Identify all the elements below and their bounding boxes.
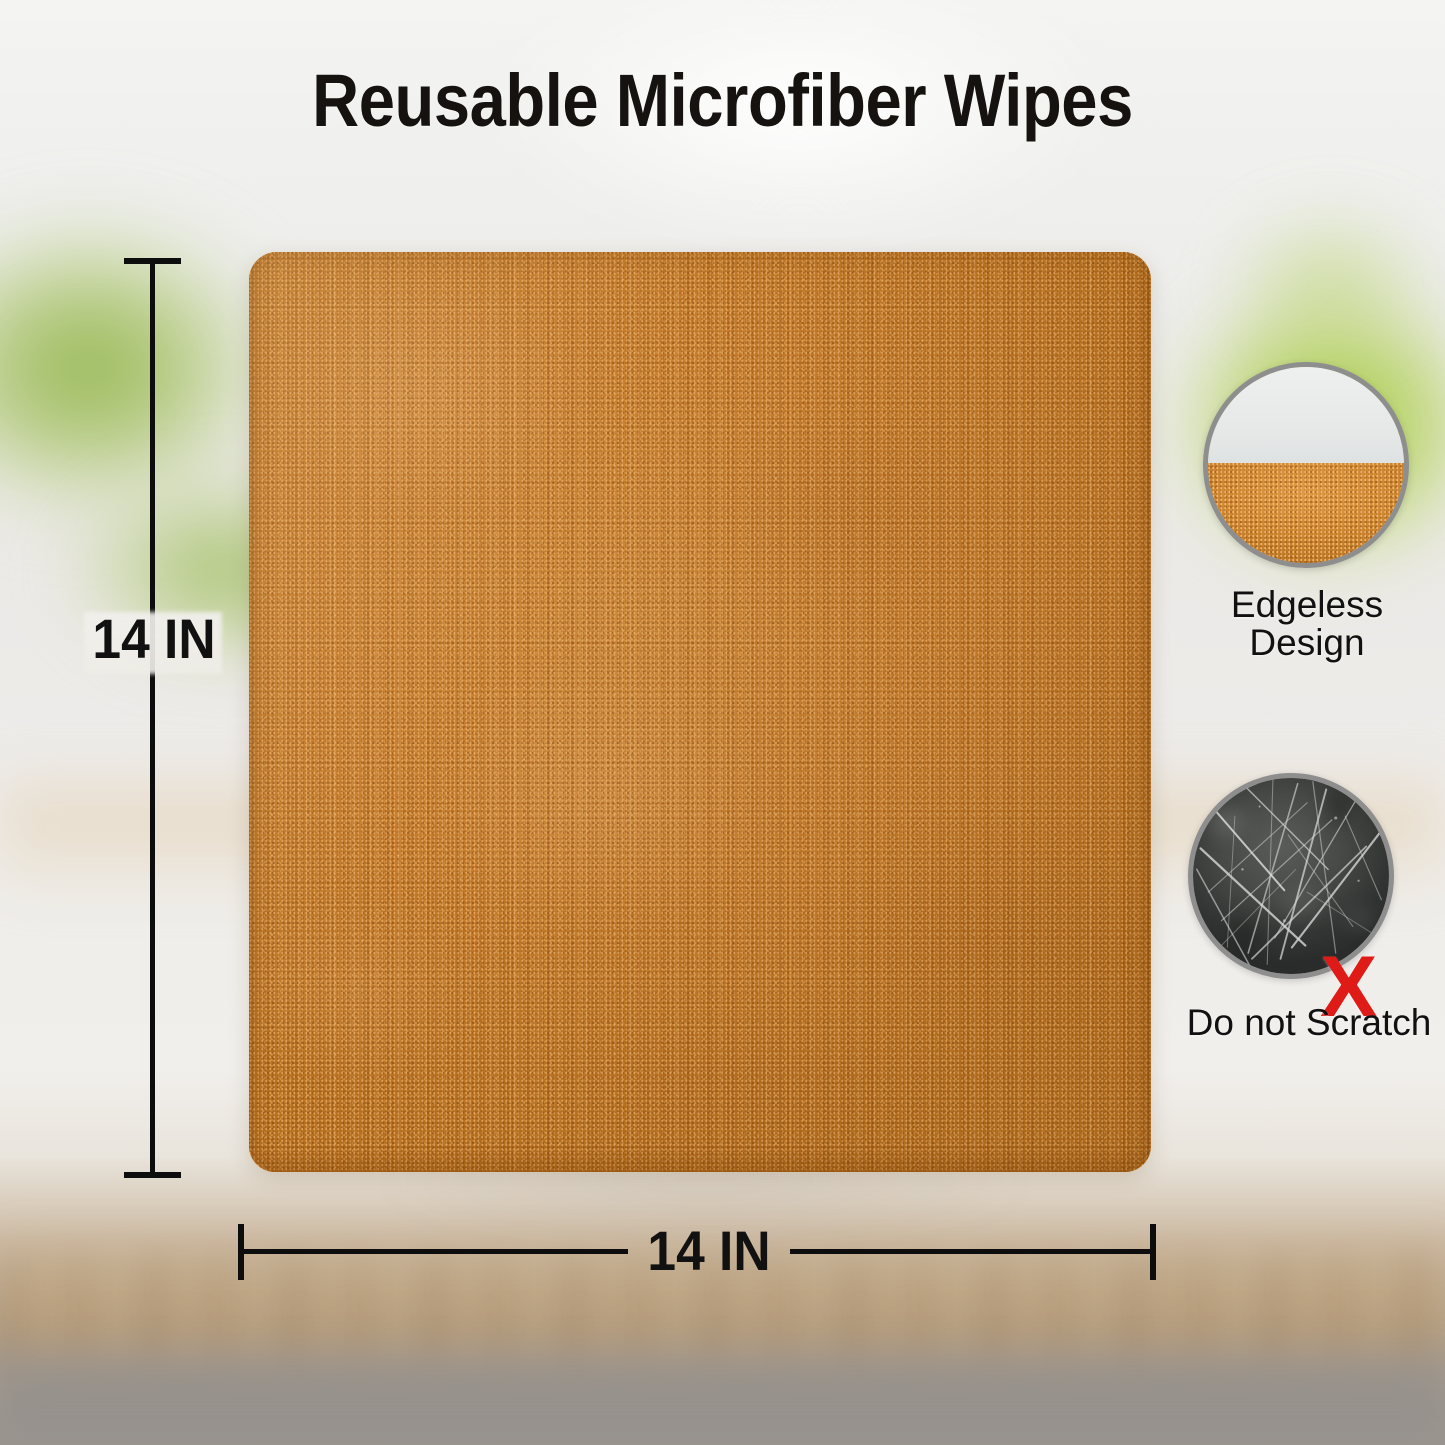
width-dimension-line-left [240,1249,628,1254]
background-plant-right-upper-icon [1180,150,1445,370]
cloth-edge-shading [249,252,1151,1172]
width-dimension-cap-right [1150,1224,1156,1280]
height-dimension-line [150,260,155,1178]
closeup-light-half [1208,367,1404,463]
background-floor [0,1352,1445,1445]
callout-edgeless-design-label: Edgeless Design [1196,586,1418,661]
height-dimension-cap-bottom [124,1172,181,1178]
microfiber-wipe-image [249,252,1151,1172]
callout-do-not-scratch-label: Do not Scratch [1178,1004,1440,1042]
callout-edgeless-design [1203,362,1409,568]
width-dimension-line-right [790,1249,1155,1254]
page-title: Reusable Microfiber Wipes [87,58,1359,143]
height-dimension-label: 14 IN [84,606,224,671]
closeup-fiber-half [1208,463,1404,563]
closeup-weave-texture [1208,463,1404,563]
width-dimension-label: 14 IN [634,1218,783,1283]
cloth-edge-closeup-icon [1203,362,1409,568]
product-infographic: Reusable Microfiber Wipes 14 IN 14 IN Ed… [0,0,1445,1445]
